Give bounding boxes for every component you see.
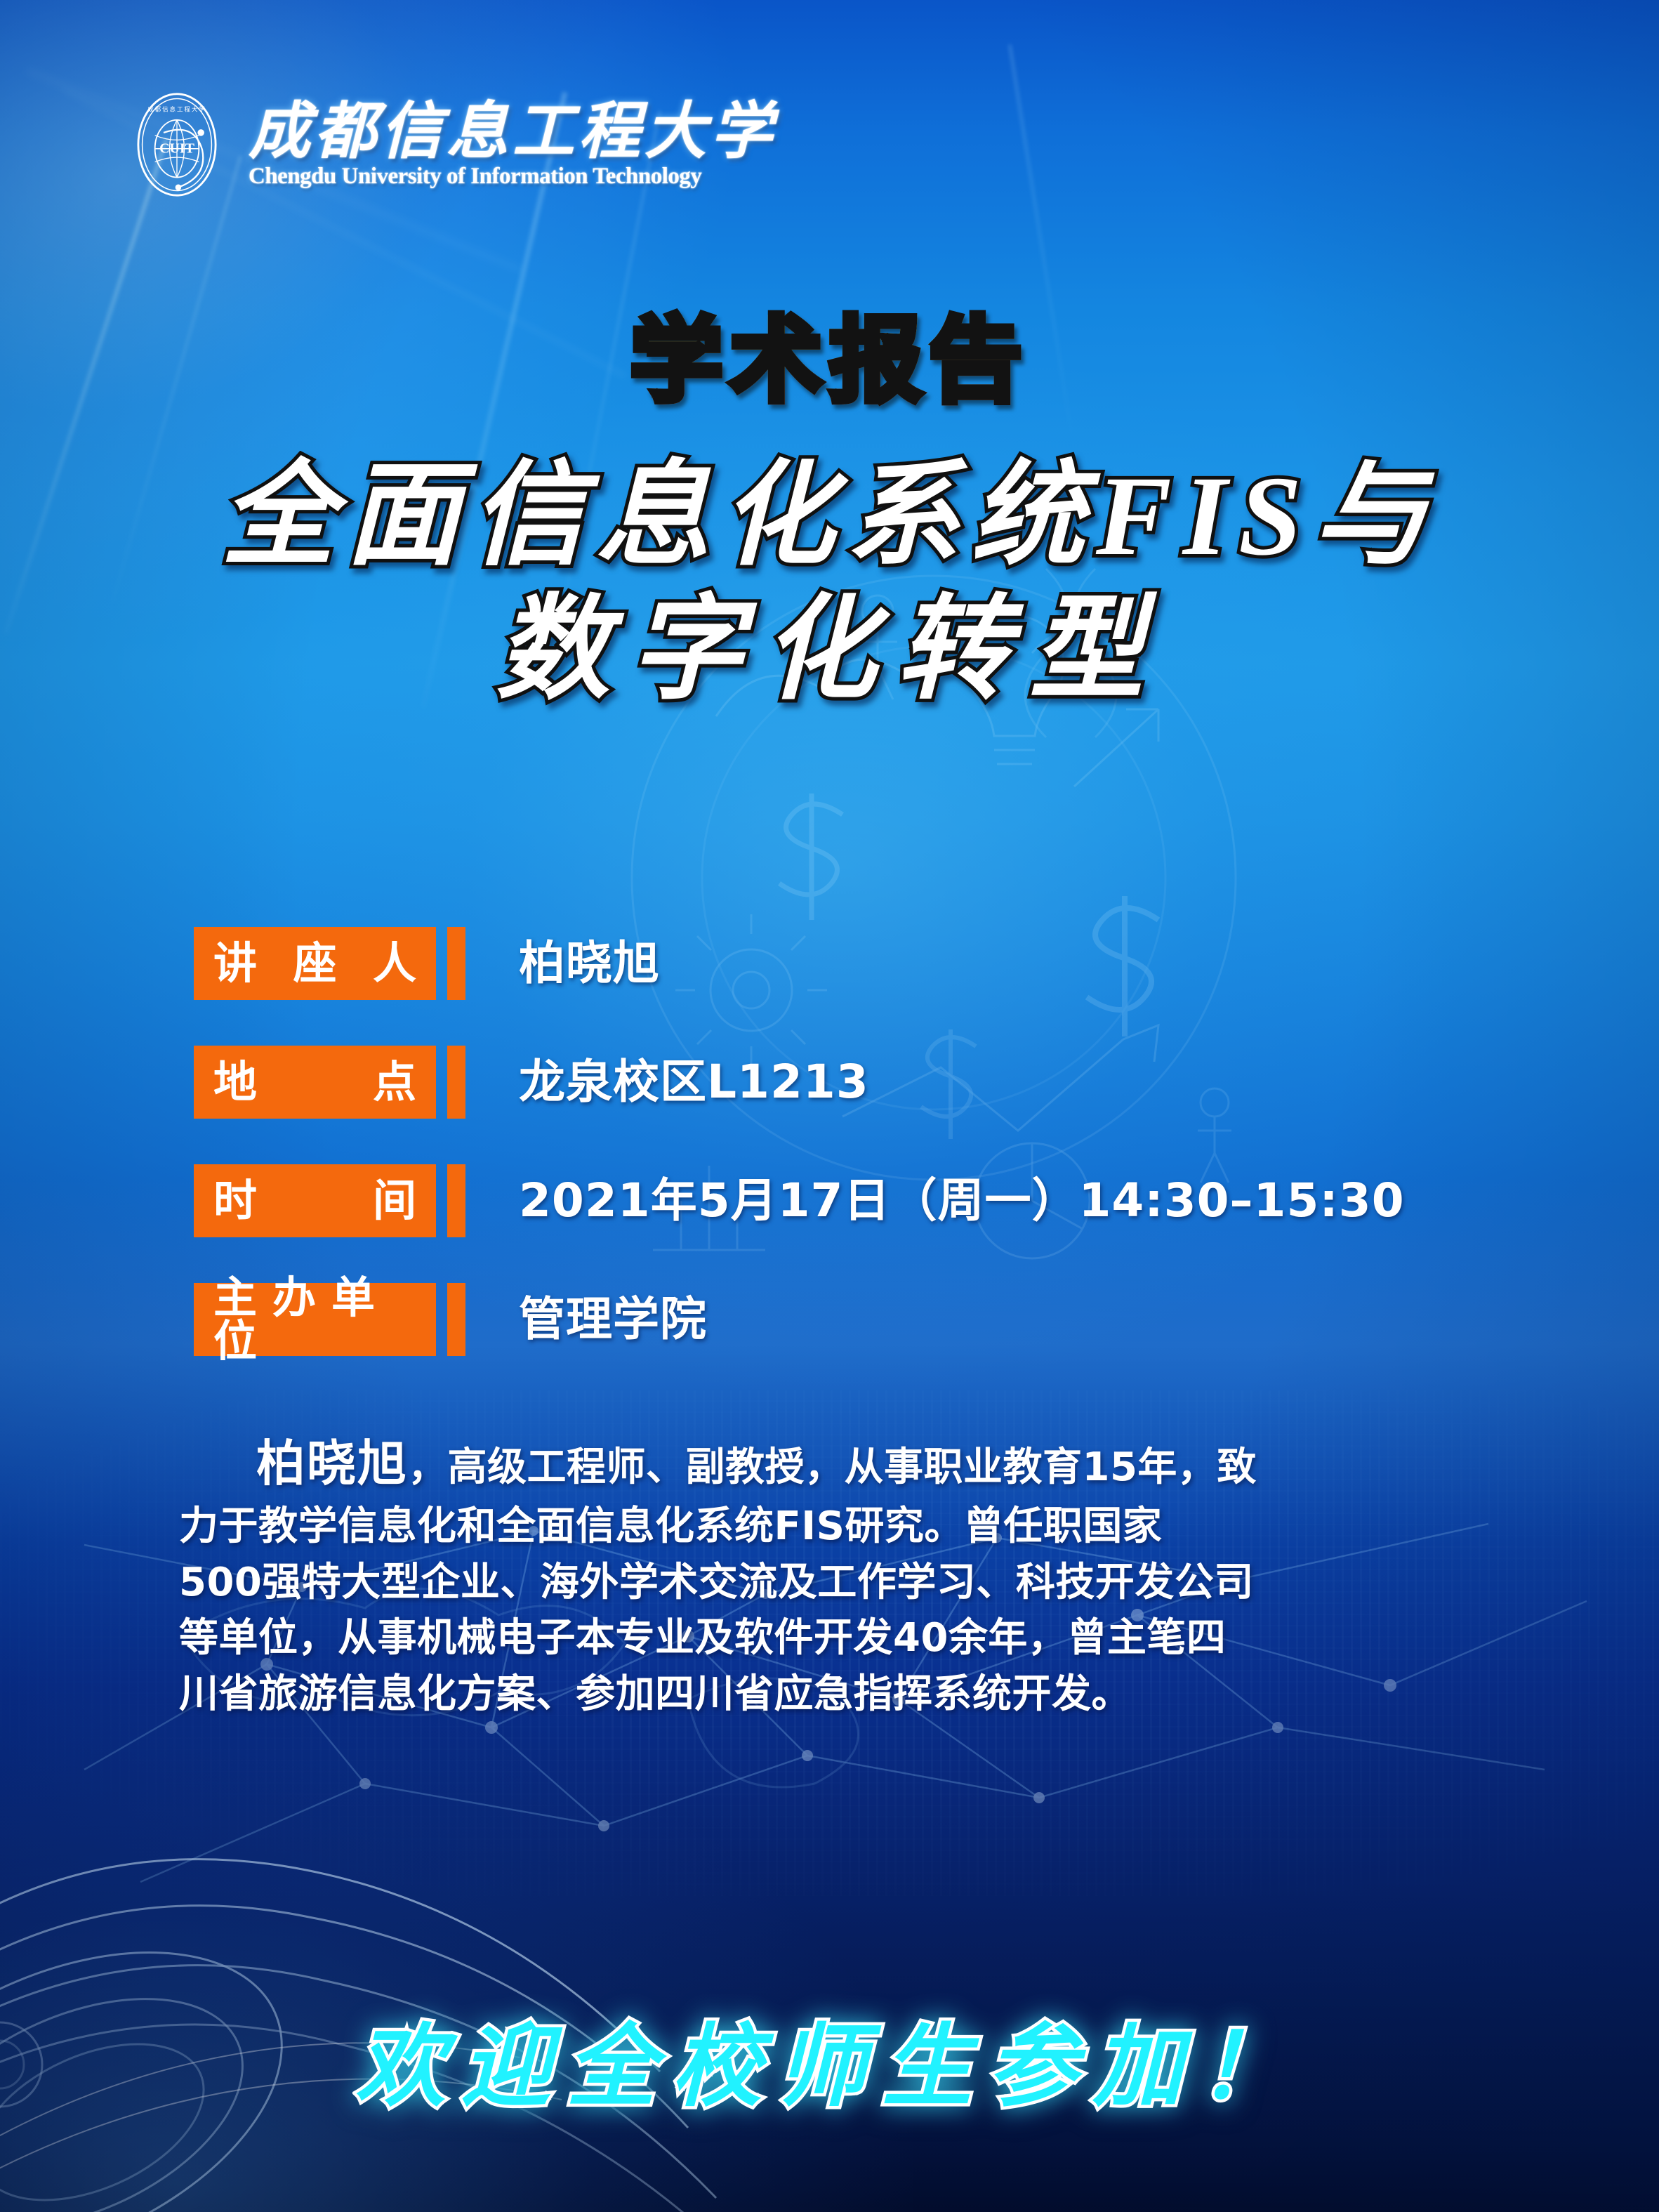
university-seal-icon: CUIT 成都信息工程大学 (124, 91, 230, 198)
bio-line-1-rest: ，高级工程师、副教授，从事职业教育15年，致 (408, 1444, 1257, 1490)
info-value-organizer: 管理学院 (519, 1296, 707, 1343)
poster-title-line-1: 全面信息化系统FIS与 (0, 449, 1659, 584)
university-header: CUIT 成都信息工程大学 成都信息工程大学 Chengdu Universit… (124, 91, 776, 198)
info-accent-bar (447, 1164, 465, 1237)
info-accent-bar (447, 927, 465, 1000)
info-row-organizer: 主办单位 管理学院 (194, 1283, 1528, 1356)
info-row-time: 时 间 2021年5月17日（周一）14:30–15:30 (194, 1164, 1528, 1237)
info-label-location: 地 点 (194, 1046, 436, 1119)
info-accent-bar (447, 1283, 465, 1356)
university-name-en: Chengdu University of Information Techno… (249, 165, 776, 188)
university-name-cn: 成都信息工程大学 (249, 102, 776, 164)
info-label-organizer: 主办单位 (194, 1283, 436, 1356)
bio-speaker-name: 柏晓旭 (256, 1435, 408, 1492)
bio-line-2: 力于教学信息化和全面信息化系统FIS研究。曾任职国家 (179, 1499, 1513, 1555)
bottom-glow (0, 1692, 913, 2212)
poster-title: 全面信息化系统FIS与 数字化转型 (0, 449, 1659, 718)
bio-line-3: 500强特大型企业、海外学术交流及工作学习、科技开发公司 (179, 1555, 1513, 1611)
call-to-action: 欢迎全校师生参加！ (0, 2022, 1659, 2112)
event-info-block: 讲 座 人 柏晓旭 地 点 龙泉校区L1213 时 间 2021年5月17日（周… (194, 927, 1528, 1402)
svg-text:成都信息工程大学: 成都信息工程大学 (147, 105, 206, 113)
info-row-speaker: 讲 座 人 柏晓旭 (194, 927, 1528, 1000)
info-label-time: 时 间 (194, 1164, 436, 1237)
poster-title-line-2: 数字化转型 (0, 584, 1659, 718)
bio-line-1: 柏晓旭，高级工程师、副教授，从事职业教育15年，致 (179, 1429, 1513, 1499)
poster-kicker: 学术报告 (0, 315, 1659, 407)
info-label-speaker: 讲 座 人 (194, 927, 436, 1000)
info-value-time: 2021年5月17日（周一）14:30–15:30 (519, 1178, 1405, 1224)
svg-text:CUIT: CUIT (159, 140, 194, 156)
info-row-location: 地 点 龙泉校区L1213 (194, 1046, 1528, 1119)
poster-canvas: CUIT 成都信息工程大学 成都信息工程大学 Chengdu Universit… (0, 0, 1659, 2212)
bio-line-5: 川省旅游信息化方案、参加四川省应急指挥系统开发。 (179, 1666, 1513, 1723)
speaker-biography: 柏晓旭，高级工程师、副教授，从事职业教育15年，致 力于教学信息化和全面信息化系… (179, 1429, 1513, 1722)
info-value-speaker: 柏晓旭 (519, 940, 660, 987)
info-value-location: 龙泉校区L1213 (519, 1059, 869, 1105)
bio-line-4: 等单位，从事机械电子本专业及软件开发40余年，曾主笔四 (179, 1610, 1513, 1666)
info-accent-bar (447, 1046, 465, 1119)
